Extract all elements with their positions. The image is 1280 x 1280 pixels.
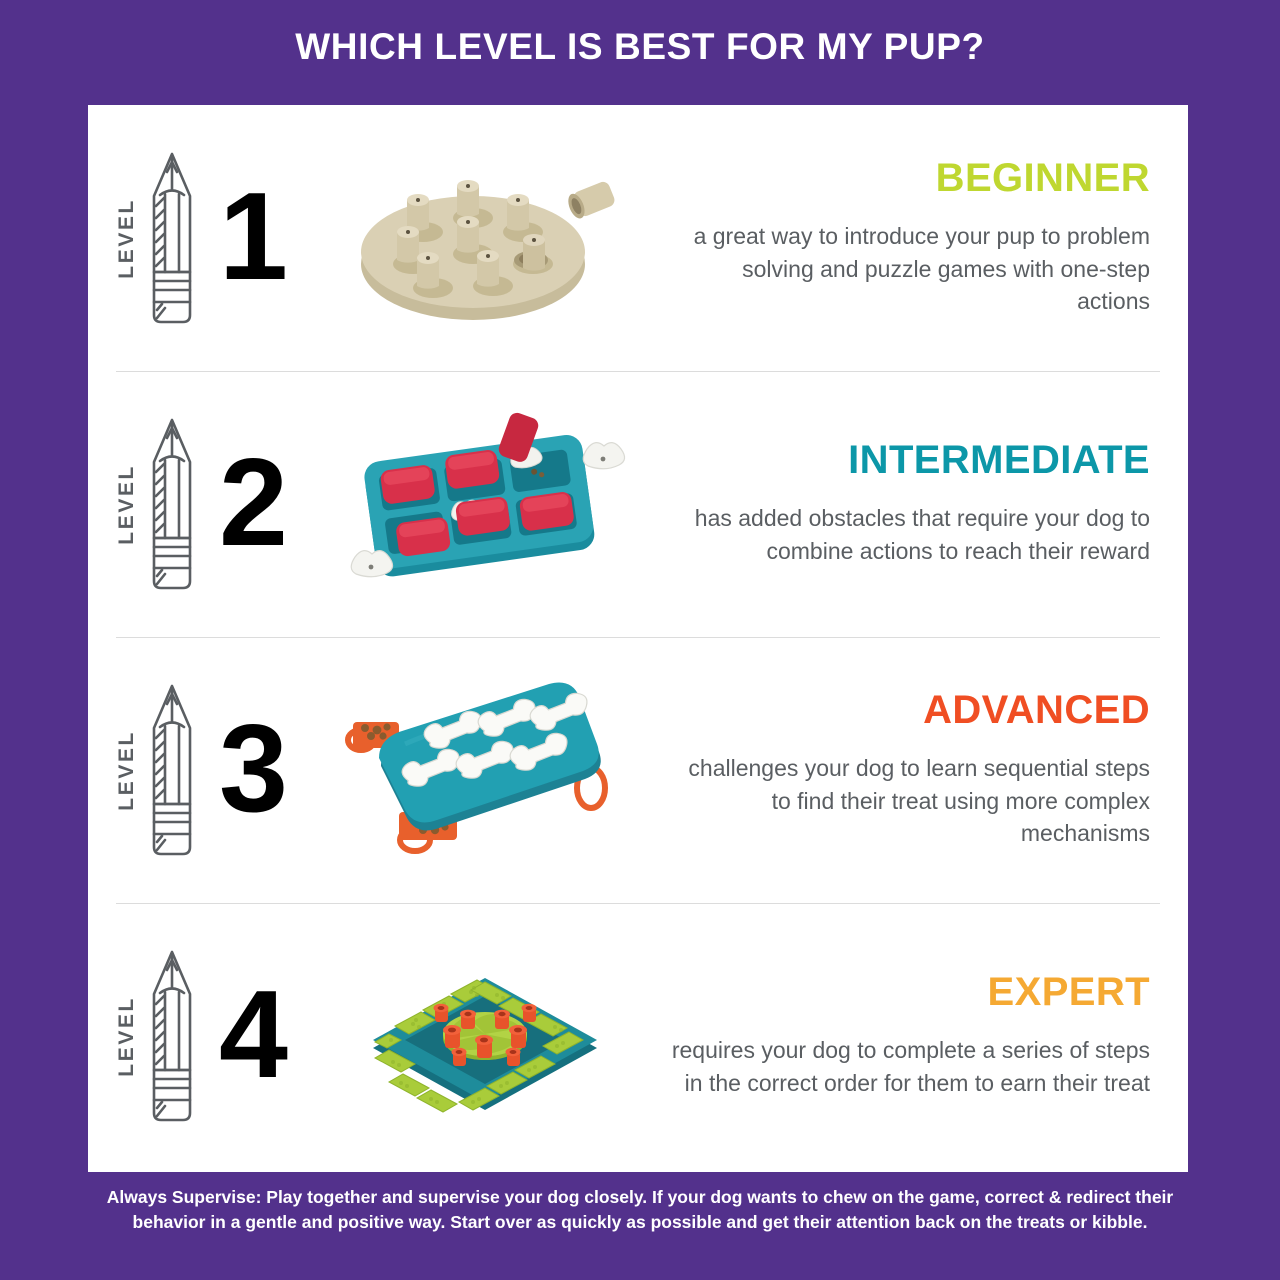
- levels-card: LEVEL 1: [88, 105, 1188, 1172]
- level-row-3: LEVEL 3: [88, 637, 1188, 903]
- pencil-icon: [143, 150, 201, 326]
- level-description-2: has added obstacles that require your do…: [670, 502, 1150, 567]
- round-beige-peg-puzzle-icon: [345, 146, 625, 331]
- level-copy-1: BEGINNER a great way to introduce your p…: [650, 105, 1188, 371]
- level-badge-4: LEVEL 4: [88, 903, 320, 1169]
- level-word-label: LEVEL: [116, 198, 137, 279]
- level-number-2: 2: [219, 451, 288, 556]
- green-teal-sliding-tile-board-icon: [335, 944, 635, 1129]
- product-image-4: [320, 903, 650, 1169]
- teal-tray-with-red-flip-lids-icon: [335, 407, 635, 602]
- level-number-3: 3: [219, 717, 288, 822]
- level-description-4: requires your dog to complete a series o…: [670, 1034, 1150, 1099]
- pencil-icon: [143, 682, 201, 858]
- level-title-3: ADVANCED: [923, 690, 1150, 730]
- level-title-1: BEGINNER: [936, 158, 1150, 198]
- level-copy-3: ADVANCED challenges your dog to learn se…: [650, 637, 1188, 903]
- footer-note: Always Supervise: Play together and supe…: [0, 1185, 1280, 1235]
- level-badge-2: LEVEL 2: [88, 371, 320, 637]
- level-title-4: EXPERT: [988, 972, 1150, 1012]
- product-image-1: [320, 105, 650, 371]
- level-badge-3: LEVEL 3: [88, 637, 320, 903]
- level-number-4: 4: [219, 983, 288, 1088]
- product-image-2: [320, 371, 650, 637]
- level-number-1: 1: [219, 185, 288, 290]
- pencil-icon: [143, 948, 201, 1124]
- product-image-3: [320, 637, 650, 903]
- level-row-2: LEVEL 2: [88, 371, 1188, 637]
- level-copy-2: INTERMEDIATE has added obstacles that re…: [650, 371, 1188, 637]
- level-copy-4: EXPERT requires your dog to complete a s…: [650, 903, 1188, 1169]
- level-title-2: INTERMEDIATE: [848, 440, 1150, 480]
- pencil-icon: [143, 416, 201, 592]
- page-title: WHICH LEVEL IS BEST FOR MY PUP?: [0, 26, 1280, 68]
- level-description-3: challenges your dog to learn sequential …: [670, 752, 1150, 850]
- level-badge-1: LEVEL 1: [88, 105, 320, 371]
- level-word-label: LEVEL: [116, 730, 137, 811]
- level-description-1: a great way to introduce your pup to pro…: [670, 220, 1150, 318]
- level-row-1: LEVEL 1: [88, 105, 1188, 371]
- teal-board-with-bone-sliders-icon: [335, 670, 635, 870]
- level-row-4: LEVEL 4: [88, 903, 1188, 1169]
- level-word-label: LEVEL: [116, 996, 137, 1077]
- level-word-label: LEVEL: [116, 464, 137, 545]
